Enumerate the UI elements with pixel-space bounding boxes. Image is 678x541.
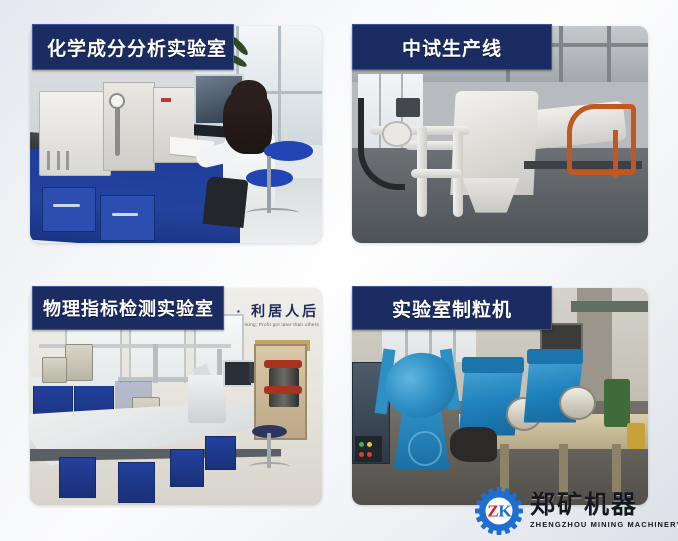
mixer-lid: [462, 357, 524, 372]
lab-stool-base: [249, 462, 290, 473]
sieve-stack: [65, 344, 93, 381]
panel-label-text: 物理指标检测实验室: [43, 295, 214, 321]
tester-red-platen: [264, 360, 302, 369]
panel-label-pilot-production-line: 中试生产线: [352, 24, 552, 70]
wall-slogan-cn: · 利居人后: [237, 301, 320, 321]
lab-stool-pole: [267, 156, 271, 212]
brand-emblem-icon: [408, 431, 442, 465]
cabinet-handle: [53, 204, 79, 207]
gear-icon: Z K: [474, 486, 524, 536]
cabinet-door: [100, 195, 155, 240]
slide-canvas: 化学成分分析实验室: [0, 0, 678, 541]
technician-leg: [203, 176, 249, 228]
pressure-gauge-icon: [109, 93, 125, 109]
mixer-lid: [527, 349, 583, 364]
tester-red-base: [264, 386, 302, 395]
logo-company-cn: 郑矿机器: [530, 493, 678, 518]
svg-text:Z: Z: [487, 502, 498, 521]
bench-cabinet: [118, 462, 155, 503]
bench-cabinet: [59, 457, 96, 498]
wall-slogan: · 利居人后 rking; Profit got later than othe…: [237, 301, 320, 327]
company-logo: Z K 郑矿机器 ZHENGZHOU MINING MACHINERY: [474, 484, 672, 538]
panel-label-text: 化学成分分析实验室: [47, 34, 227, 61]
cabinet-door: [42, 187, 97, 232]
pipe-brace: [411, 169, 461, 178]
analyzer-instrument: [39, 91, 111, 175]
orange-guard-frame: [613, 130, 642, 178]
green-beam: [571, 301, 648, 312]
bench-cabinet: [170, 449, 204, 488]
indicator-light: [161, 98, 171, 102]
panel-label-laboratory-granulator: 实验室制粒机: [352, 286, 552, 330]
lab-stool-base: [246, 208, 299, 219]
bench-cabinet: [205, 436, 236, 471]
logo-company-en: ZHENGZHOU MINING MACHINERY: [530, 521, 678, 529]
sieve-stack: [42, 357, 67, 383]
panel-label-text: 实验室制粒机: [392, 295, 512, 322]
mixing-bowl: [559, 386, 596, 420]
equipment-cover: [450, 427, 497, 462]
control-keypad: [355, 436, 382, 462]
shelf-post: [153, 344, 158, 383]
panel-label-text: 中试生产线: [402, 34, 502, 61]
svg-text:K: K: [498, 502, 512, 521]
yellow-bucket: [627, 423, 645, 449]
logo-wordmark: 郑矿机器 ZHENGZHOU MINING MACHINERY: [530, 493, 678, 529]
green-machine: [604, 379, 631, 427]
lab-stool-seat: [264, 141, 314, 161]
cabinet-handle: [112, 213, 138, 216]
wall-slogan-en: rking; Profit got later than others: [237, 322, 320, 327]
microscope: [188, 375, 226, 423]
technician-head: [231, 80, 266, 110]
panel-label-chemical-analysis-lab: 化学成分分析实验室: [32, 24, 234, 70]
panel-label-physical-index-testing-lab: 物理指标检测实验室: [32, 286, 224, 330]
